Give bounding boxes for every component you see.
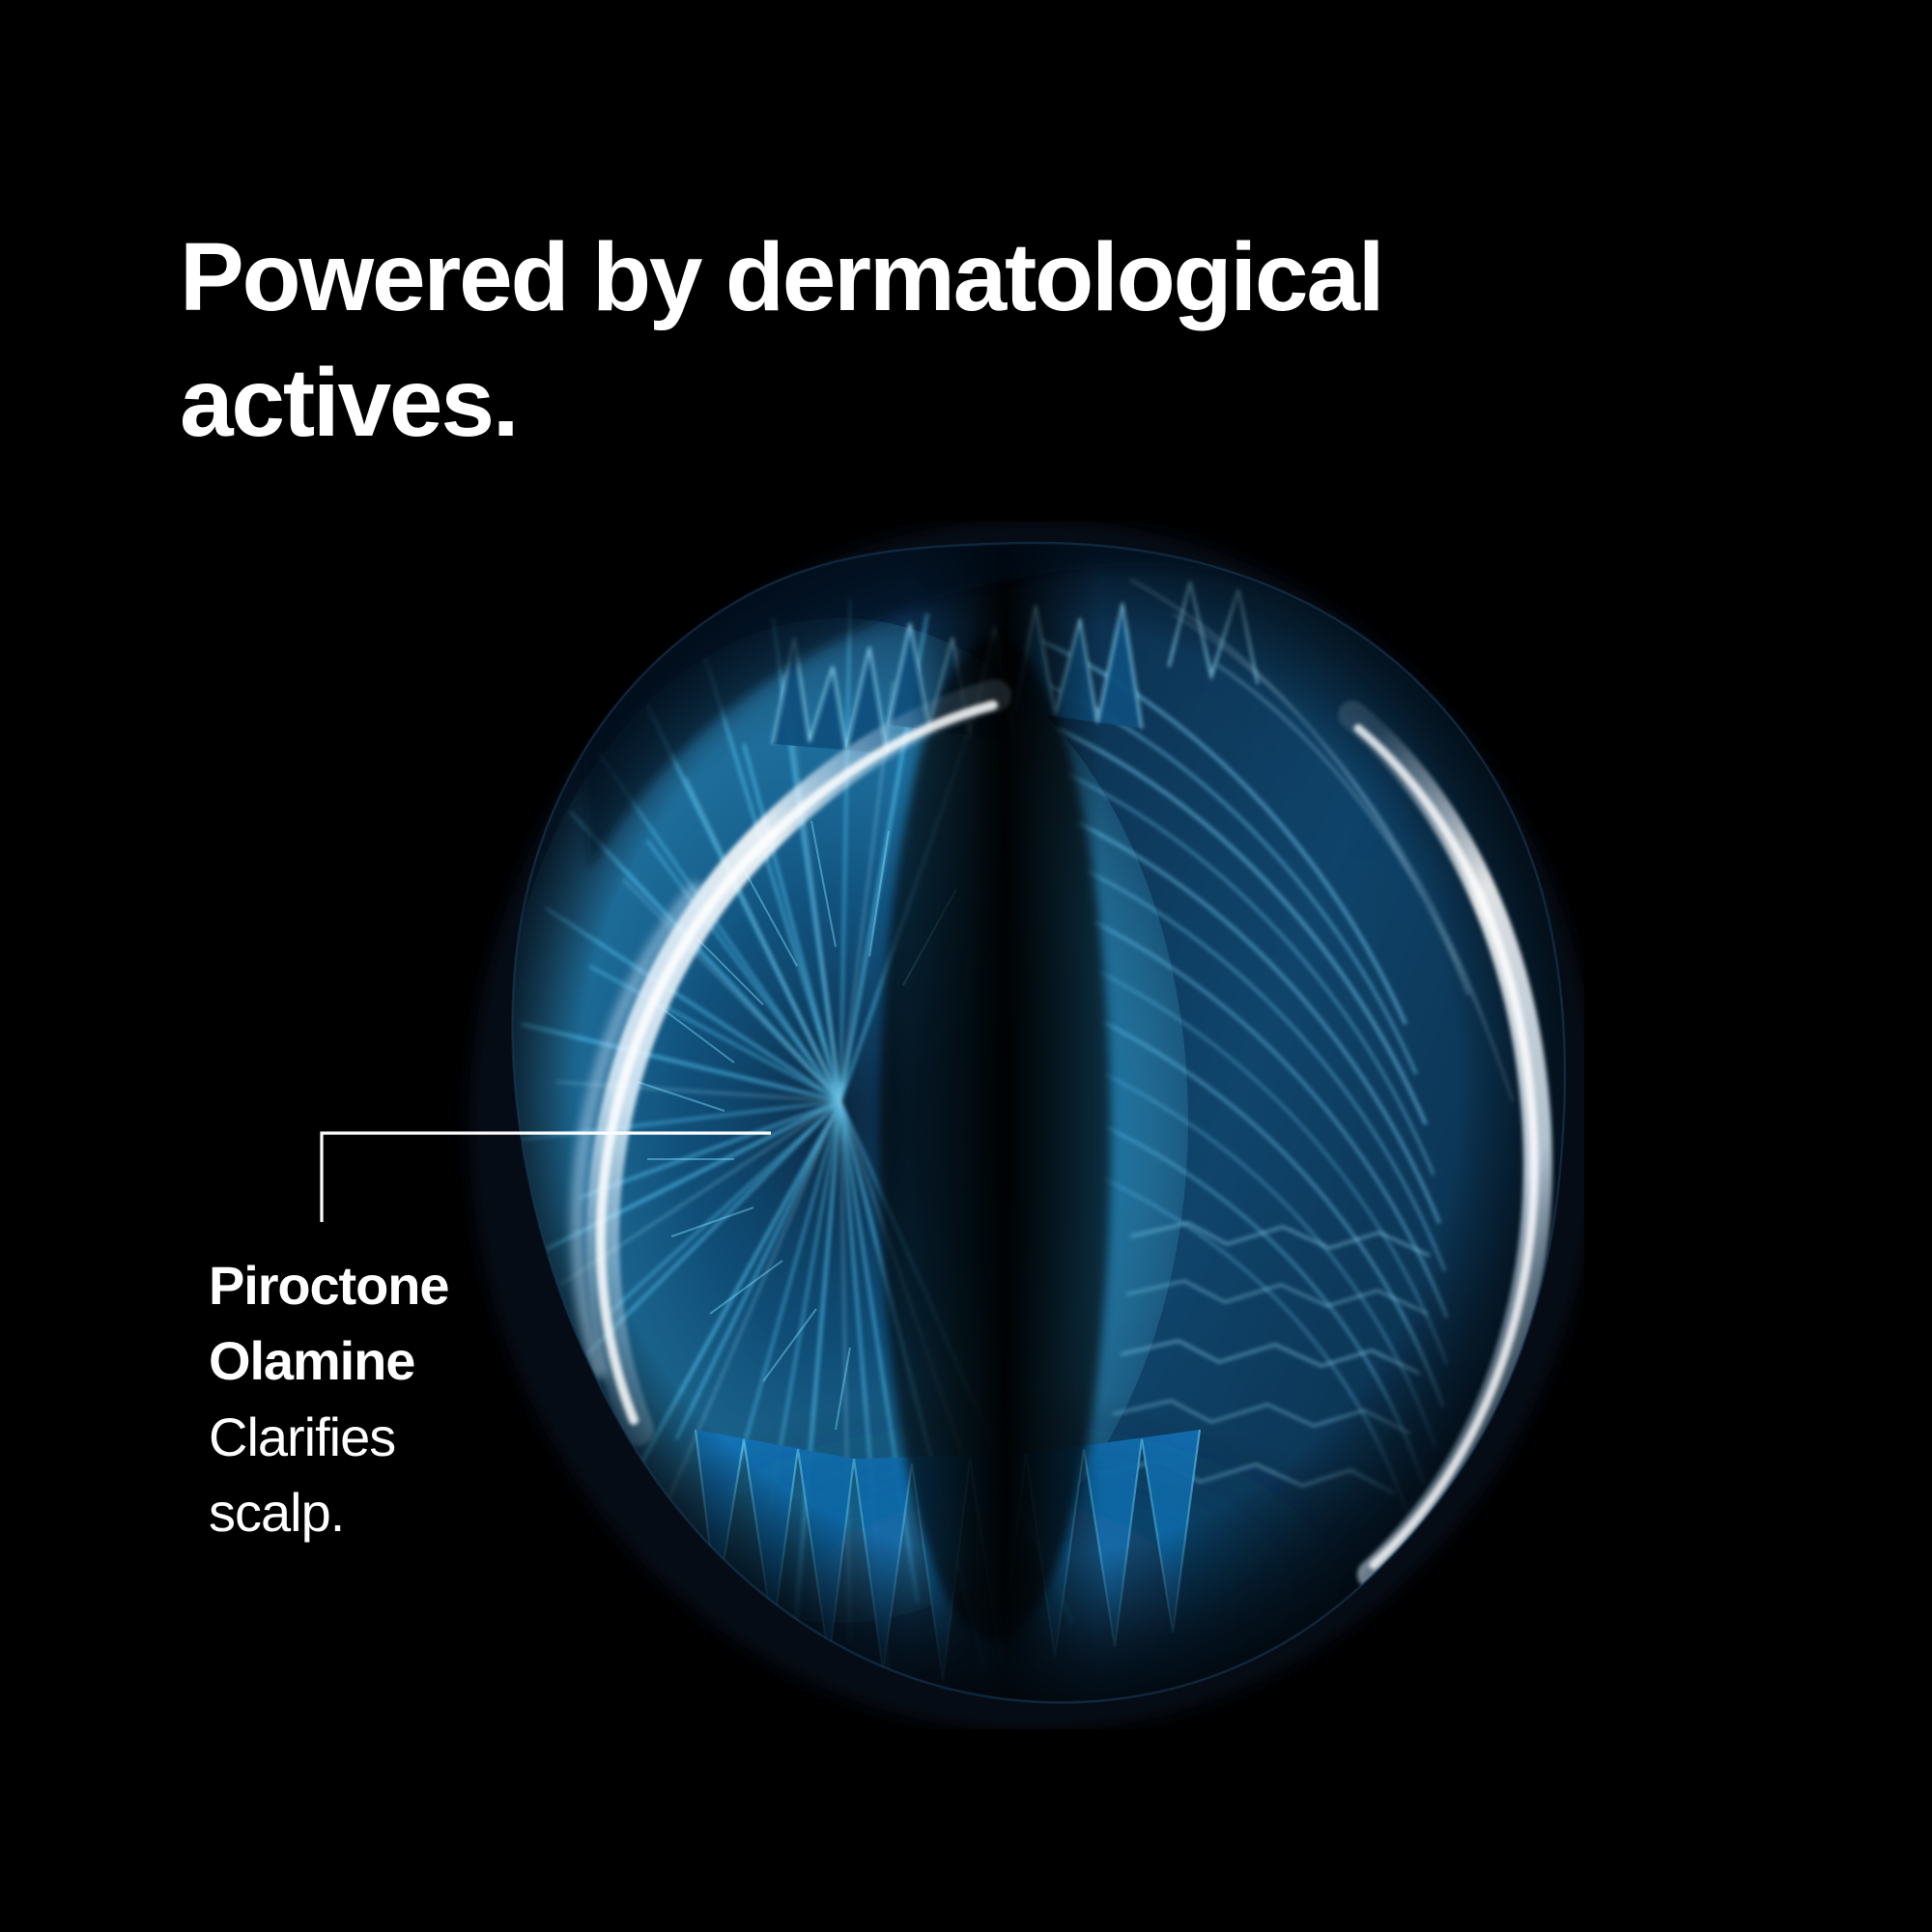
page-title: Powered by dermatological actives. [180, 214, 1629, 466]
ingredient-description: Clarifies scalp. [209, 1400, 653, 1551]
poster-canvas: Powered by dermatological actives. Piroc… [0, 0, 1932, 1932]
ingredient-name: Piroctone Olamine [209, 1248, 653, 1400]
ingredient-callout: Piroctone Olamine Clarifies scalp. [209, 1248, 653, 1551]
